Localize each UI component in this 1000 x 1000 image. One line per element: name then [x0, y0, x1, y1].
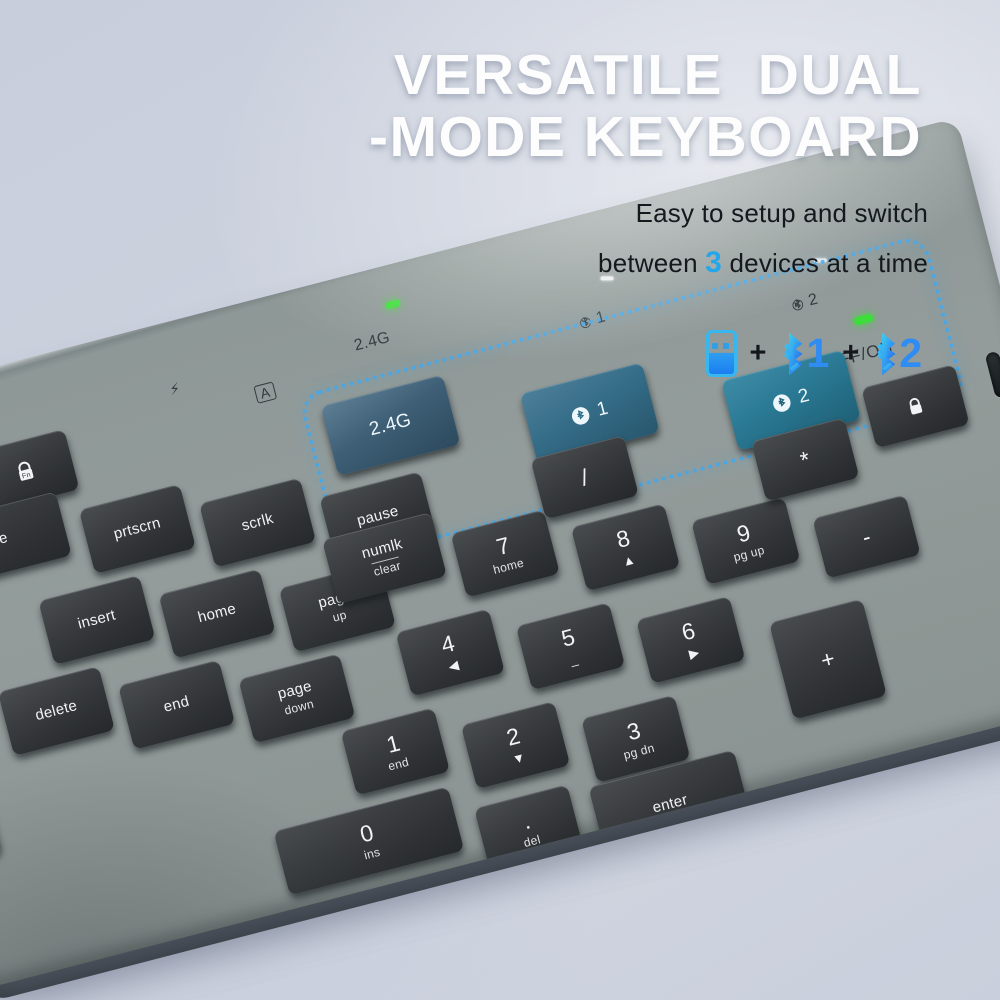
key-end[interactable]: end [118, 660, 235, 750]
key-arrow-right[interactable]: ▶ [0, 792, 2, 875]
bluetooth-icon [779, 333, 805, 375]
key-numpad-9[interactable]: 9 pg up [691, 497, 800, 585]
bluetooth-2-number: 2 [899, 333, 922, 374]
subtitle-device-count: 3 [705, 246, 722, 279]
key-prtscrn[interactable]: prtscrn [79, 484, 196, 574]
padlock-icon [902, 393, 929, 420]
bluetooth-icon [872, 333, 898, 375]
key-numpad-4[interactable]: 4 ◀ [396, 609, 505, 697]
fn-lock-icon: Fn [11, 457, 40, 486]
key-scrlk[interactable]: scrlk [199, 478, 316, 568]
device-icon-row: + 1 + 2 [706, 330, 923, 377]
subtitle-line-2: between 3 devices at a time [308, 246, 928, 280]
usb-c-port [985, 351, 1000, 399]
plus-sign-1: + [748, 339, 769, 368]
headline-line-1: VERSATILE DUAL [394, 43, 922, 107]
subtitle-line-1: Easy to setup and switch [308, 198, 928, 229]
key-numpad-1[interactable]: 1 end [341, 708, 450, 796]
key-delete[interactable]: delete [0, 666, 115, 756]
key-backspace[interactable]: backspace [0, 491, 72, 602]
page-headline: VERSATILE DUAL-MODE KEYBOARD [202, 44, 922, 168]
key-numpad-plus[interactable]: + [769, 599, 887, 720]
led-indicator-24g [385, 299, 401, 310]
bluetooth-icon [569, 404, 592, 427]
key-numpad-8[interactable]: 8 ▲ [571, 503, 680, 591]
caps-lock-indicator-icon: A [253, 381, 277, 403]
up-arrow-icon: ▲ [621, 553, 637, 570]
key-numpad-6[interactable]: 6 ▶ [636, 596, 745, 684]
body-label-24g: 2.4G [352, 329, 392, 356]
down-arrow-icon: ▼ [511, 751, 527, 768]
usb-dongle-icon [706, 330, 737, 377]
key-home[interactable]: home [158, 569, 275, 659]
plus-sign-2: + [840, 339, 861, 368]
charging-indicator-icon: ⚡ [167, 379, 182, 399]
subtitle-after: devices at a time [730, 248, 929, 278]
subtitle-before: between [598, 248, 698, 278]
left-arrow-icon: ◀ [447, 658, 460, 674]
bluetooth-device-2: 2 [872, 333, 922, 375]
key-numpad-2[interactable]: 2 ▼ [461, 701, 570, 789]
svg-text:Fn: Fn [21, 471, 31, 480]
key-numpad-5[interactable]: 5 _ [516, 602, 625, 690]
key-insert[interactable]: insert [38, 575, 155, 665]
key-numpad-minus[interactable]: - [812, 495, 920, 579]
bluetooth-icon [770, 391, 793, 414]
headline-line-2: -MODE KEYBOARD [369, 105, 922, 169]
bluetooth-device-1: 1 [779, 333, 829, 375]
product-marketing-image: 2.4G 1 2 ⚡ A OFF/ON [0, 0, 1000, 1000]
right-arrow-icon: ▶ [688, 646, 701, 662]
bluetooth-1-number: 1 [806, 333, 829, 374]
key-page-down[interactable]: page down [238, 653, 355, 743]
